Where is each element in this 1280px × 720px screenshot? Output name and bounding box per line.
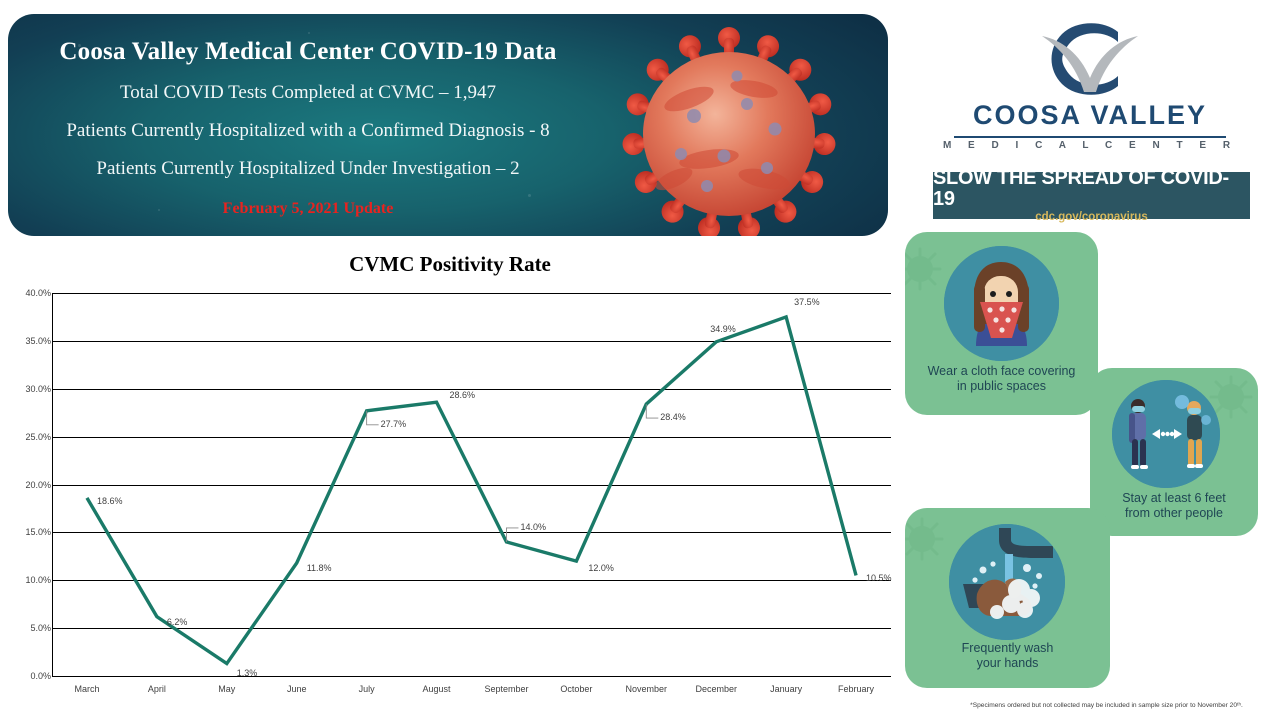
data-label-leader-line: [367, 411, 379, 425]
x-axis-tick-label: August: [423, 684, 451, 694]
card-wear-face-covering: Wear a cloth face covering in public spa…: [905, 232, 1098, 415]
data-point-label: 1.3%: [237, 668, 258, 678]
two-people-six-feet-apart-icon: [1112, 380, 1220, 488]
logo-divider: [954, 136, 1226, 138]
card-wash-text: Frequently wash your hands: [905, 641, 1110, 671]
card-wash-line1: Frequently wash: [962, 641, 1054, 655]
virus-watermark-icon: [905, 246, 943, 292]
card-distance-line2: from other people: [1125, 506, 1223, 520]
data-point-label: 10.5%: [866, 573, 892, 583]
data-point-label: 28.4%: [660, 412, 686, 422]
footnote-text: *Specimens ordered but not collected may…: [933, 702, 1280, 709]
x-axis-tick-label: April: [148, 684, 166, 694]
gridline: [52, 676, 891, 677]
logo-wordmark: COOSA VALLEY: [930, 100, 1250, 131]
positivity-rate-chart: CVMC Positivity Rate 40.0%35.0%30.0%25.0…: [0, 252, 900, 718]
x-axis-tick-label: November: [626, 684, 668, 694]
card-wash-line2: your hands: [977, 656, 1039, 670]
coosa-valley-logo: COOSA VALLEY M E D I C A L C E N T E R: [930, 16, 1250, 166]
y-axis-tick-label: 40.0%: [5, 288, 51, 298]
data-point-label: 11.8%: [307, 563, 332, 573]
coosa-valley-c-swoosh-icon: [1026, 16, 1154, 100]
data-label-leader-line: [646, 404, 658, 418]
x-axis-tick-label: September: [484, 684, 528, 694]
covid-dashboard-page: Coosa Valley Medical Center COVID-19 Dat…: [0, 0, 1280, 720]
banner-stat-confirmed: Patients Currently Hospitalized with a C…: [8, 120, 608, 142]
x-axis-tick-label: December: [695, 684, 737, 694]
banner-text-block: Coosa Valley Medical Center COVID-19 Dat…: [8, 14, 608, 236]
x-axis-tick-label: January: [770, 684, 802, 694]
card-distance-text: Stay at least 6 feet from other people: [1090, 491, 1258, 521]
data-point-label: 12.0%: [588, 563, 614, 573]
coronavirus-particle-icon: [604, 26, 854, 236]
y-axis-tick-label: 5.0%: [5, 623, 51, 633]
y-axis-tick-label: 30.0%: [5, 384, 51, 394]
data-point-label: 14.0%: [520, 522, 546, 532]
card-distance-line1: Stay at least 6 feet: [1122, 491, 1226, 505]
banner-stat-investigation: Patients Currently Hospitalized Under In…: [8, 158, 608, 180]
x-axis-tick-label: June: [287, 684, 307, 694]
x-axis-tick-label: March: [74, 684, 99, 694]
y-axis-tick-label: 35.0%: [5, 336, 51, 346]
x-axis-tick-label: October: [560, 684, 592, 694]
handwashing-faucet-icon: [949, 524, 1065, 640]
chart-plot-area: 40.0%35.0%30.0%25.0%20.0%15.0%10.0%5.0%0…: [52, 293, 891, 676]
data-point-label: 28.6%: [450, 390, 476, 400]
card-wash-your-hands: Frequently wash your hands: [905, 508, 1110, 688]
data-point-label: 37.5%: [794, 297, 820, 307]
y-axis-tick-label: 15.0%: [5, 527, 51, 537]
logo-subtitle: M E D I C A L C E N T E R: [930, 140, 1250, 151]
virus-watermark-icon: [905, 516, 945, 562]
x-axis-tick-label: May: [218, 684, 235, 694]
y-axis-tick-label: 10.0%: [5, 575, 51, 585]
y-axis-tick-label: 25.0%: [5, 432, 51, 442]
banner-update-date: February 5, 2021 Update: [8, 200, 608, 218]
y-axis-tick-label: 20.0%: [5, 480, 51, 490]
x-axis-tick-label: July: [359, 684, 375, 694]
data-point-label: 34.9%: [710, 324, 736, 334]
x-axis-tick-label: February: [838, 684, 874, 694]
data-point-label: 18.6%: [97, 496, 123, 506]
cdc-headline: SLOW THE SPREAD OF COVID-19: [933, 168, 1250, 210]
banner-stat-tests: Total COVID Tests Completed at CVMC – 1,…: [8, 82, 608, 104]
data-point-label: 27.7%: [381, 419, 407, 429]
card-mask-text: Wear a cloth face covering in public spa…: [905, 364, 1098, 394]
card-mask-line2: in public spaces: [957, 379, 1046, 393]
cdc-url-link[interactable]: cdc.gov/coronavirus: [1035, 211, 1147, 223]
person-wearing-cloth-face-covering-icon: [944, 246, 1059, 361]
header-banner: Coosa Valley Medical Center COVID-19 Dat…: [8, 14, 888, 236]
data-label-leader-line: [506, 528, 518, 542]
y-axis-tick-label: 0.0%: [5, 671, 51, 681]
coronavirus-particle-svg: [604, 26, 854, 236]
data-point-label: 6.2%: [167, 617, 188, 627]
card-mask-line1: Wear a cloth face covering: [928, 364, 1076, 378]
banner-title: Coosa Valley Medical Center COVID-19 Dat…: [8, 38, 608, 66]
card-stay-six-feet-apart: Stay at least 6 feet from other people: [1090, 368, 1258, 536]
cdc-slow-the-spread-banner[interactable]: SLOW THE SPREAD OF COVID-19 cdc.gov/coro…: [933, 172, 1250, 219]
chart-title: CVMC Positivity Rate: [0, 252, 900, 277]
